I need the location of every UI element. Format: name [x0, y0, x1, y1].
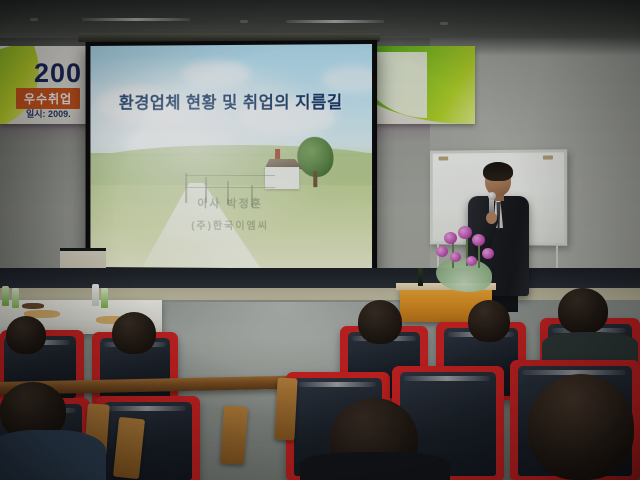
speaker-hand	[486, 212, 497, 224]
whiteboard-clip-icon	[543, 155, 553, 159]
orchid-bloom	[444, 232, 457, 244]
slide-company-name: (주)한국이엠씨	[90, 216, 372, 232]
orchid-bloom	[482, 248, 494, 259]
photo-scene: 200 수회 우수취업 공전략토론 일시: 2009. 학교 환경공학과	[0, 0, 640, 480]
audience-head	[6, 316, 46, 354]
drink-bottle	[12, 288, 19, 308]
ceiling-fixture-dot	[440, 22, 448, 25]
seat-armrest	[274, 378, 297, 441]
banner-left-chip: 우수취업	[16, 88, 80, 109]
microphone-head-icon	[488, 192, 496, 200]
ceiling-light-strip	[82, 18, 190, 21]
slide-presenter-name: 이사 박정훈	[90, 195, 372, 212]
foreground-audience-shoulders	[0, 430, 106, 480]
drink-bottle	[101, 288, 108, 308]
foreground-audience-shoulders	[300, 452, 450, 480]
audience-shoulders	[542, 332, 638, 362]
audience-head	[468, 300, 510, 342]
audience-head	[358, 300, 402, 344]
slide-title: 환경업체 현황 및 취업의 지름길	[90, 88, 372, 113]
water-bottle	[418, 268, 423, 286]
slide-tree-trunk	[313, 171, 317, 187]
banner-year-text: 200	[34, 58, 82, 89]
orchid-bloom	[466, 256, 477, 266]
orchid-bloom	[436, 246, 448, 257]
snack-items	[22, 303, 44, 309]
projection-screen-frame: 환경업체 현황 및 취업의 지름길 이사 박정훈 (주)한국이엠씨	[86, 40, 378, 278]
banner-date-text: 일시: 2009.	[26, 107, 71, 120]
slide-fence-wire	[185, 175, 275, 176]
seat-highlight	[298, 382, 376, 387]
drink-bottle	[92, 284, 99, 306]
seat-highlight	[404, 376, 490, 381]
orchid-bloom	[472, 234, 485, 246]
orchid-bloom	[458, 226, 472, 239]
drink-bottle	[2, 286, 9, 306]
ceiling-fixture-dot	[240, 20, 248, 23]
slide-fence-wire	[185, 187, 275, 188]
slide-house	[265, 167, 299, 189]
audience-head	[558, 288, 608, 334]
audience-head	[112, 312, 156, 354]
orchid-bloom	[450, 252, 461, 262]
seat-highlight	[108, 406, 186, 411]
projection-screen-surface: 환경업체 현황 및 취업의 지름길 이사 박정훈 (주)한국이엠씨	[90, 44, 372, 269]
seat-armrest	[220, 405, 248, 465]
foreground-audience-head	[528, 374, 634, 480]
ceiling-light-strip	[286, 20, 384, 23]
whiteboard-clip-icon	[439, 156, 449, 160]
speaker-hair	[483, 162, 513, 181]
ceiling-fixture-dot	[30, 18, 38, 21]
